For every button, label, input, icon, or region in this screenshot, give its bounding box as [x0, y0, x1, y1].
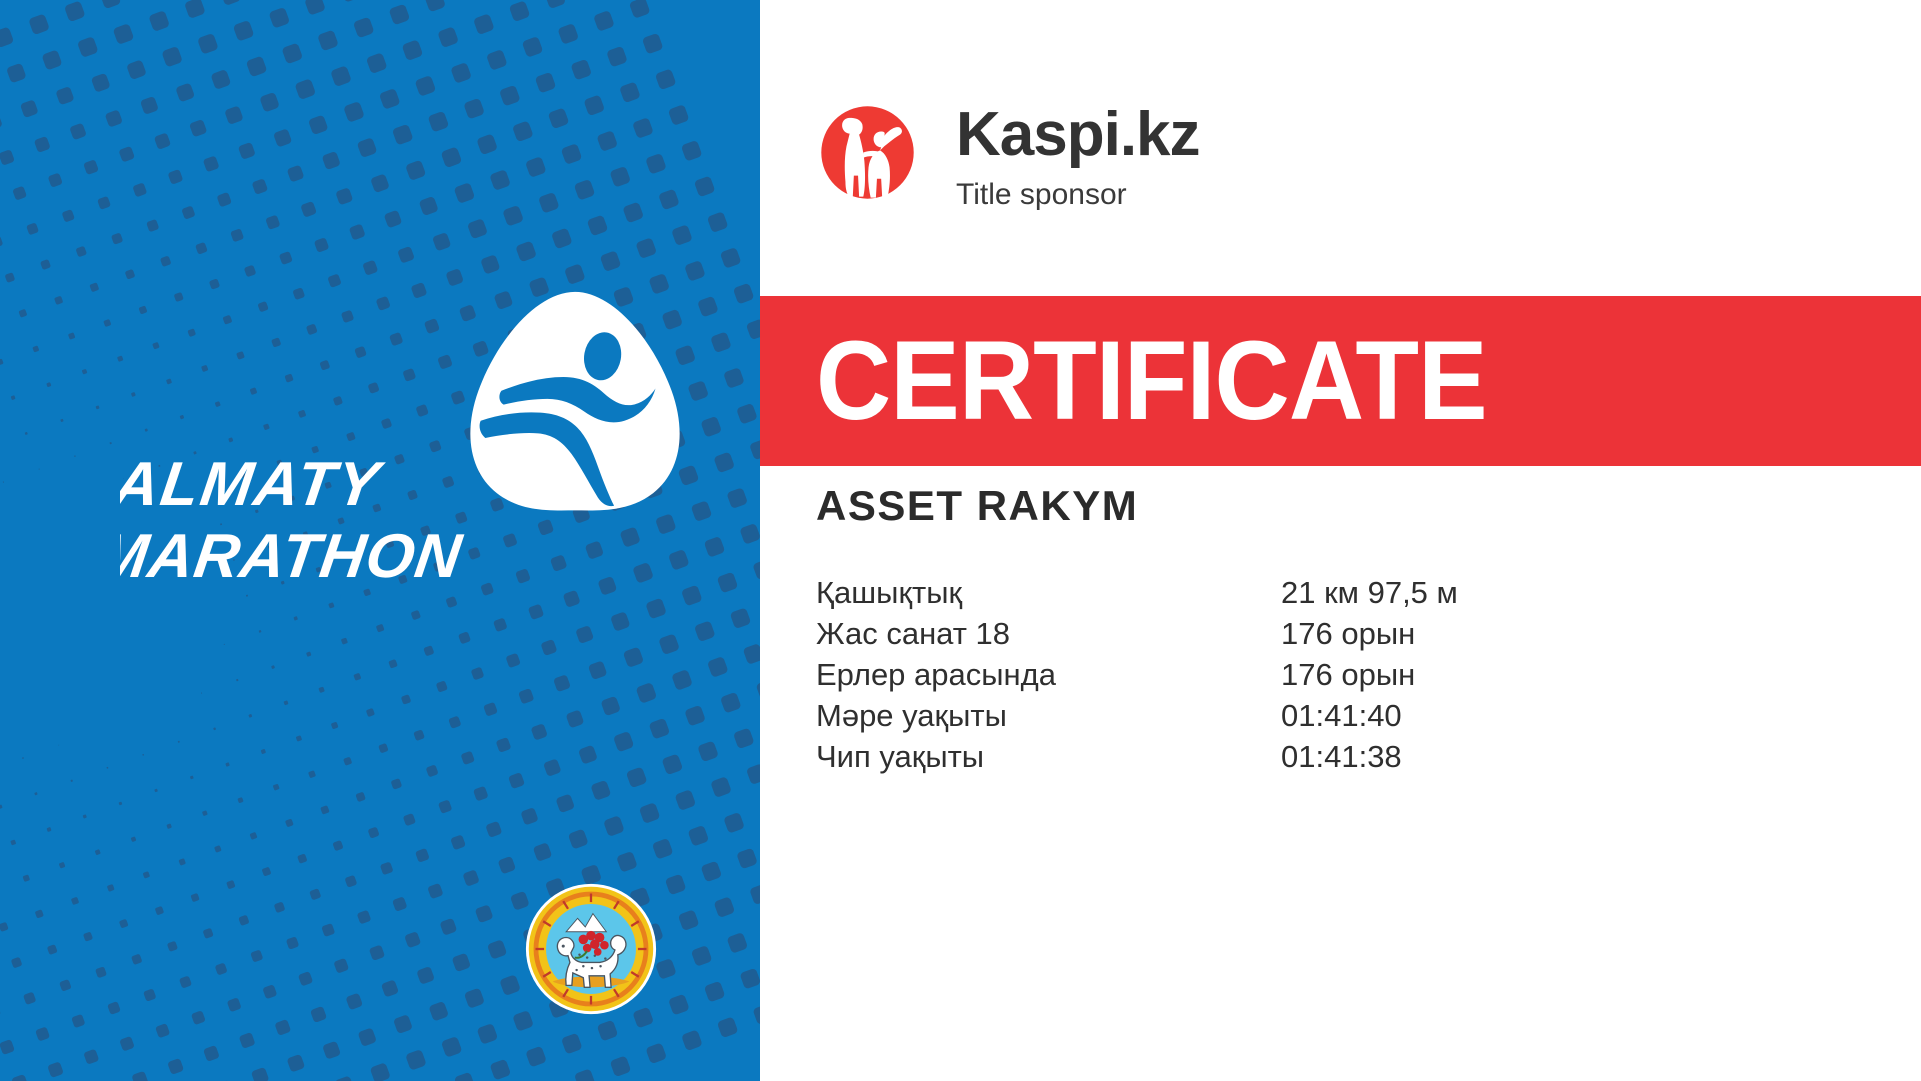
result-value: 176 орын [1281, 616, 1415, 652]
sponsor-text-block: Kaspi.kz Title sponsor [956, 100, 1200, 210]
table-row: Мәре уақыты 01:41:40 [816, 698, 1816, 739]
marathon-word-marathon: MARATHON [120, 522, 467, 591]
table-row: Ерлер арасында 176 орын [816, 657, 1816, 698]
result-label: Чип уақыты [816, 739, 1281, 775]
almaty-marathon-wordmark: ALMATY MARATHON [120, 445, 590, 595]
athlete-name: ASSET RAKYM [816, 482, 1138, 530]
sponsor-role: Title sponsor [956, 180, 1200, 210]
sponsor-name: Kaspi.kz [956, 104, 1200, 166]
result-label: Мәре уақыты [816, 698, 1281, 734]
certificate-page: ALMATY MARATHON [0, 0, 1921, 1081]
table-row: Чип уақыты 01:41:38 [816, 739, 1816, 780]
almaty-city-coat-of-arms [524, 882, 658, 1016]
certificate-banner: CERTIFICATE [760, 296, 1921, 466]
result-label: Жас санат 18 [816, 616, 1281, 652]
result-value: 176 орын [1281, 657, 1415, 693]
result-label: Қашықтық [816, 575, 1281, 611]
result-value: 01:41:40 [1281, 698, 1402, 734]
table-row: Қашықтық 21 км 97,5 м [816, 575, 1816, 616]
result-value: 21 км 97,5 м [1281, 575, 1458, 611]
title-sponsor-block: Kaspi.kz Title sponsor [815, 100, 1200, 210]
marathon-word-almaty: ALMATY [120, 450, 388, 519]
almaty-marathon-logo: ALMATY MARATHON [120, 285, 690, 605]
certificate-title: CERTIFICATE [816, 325, 1487, 437]
kaspi-kz-logo [815, 100, 920, 205]
table-row: Жас санат 18 176 орын [816, 616, 1816, 657]
results-table: Қашықтық 21 км 97,5 м Жас санат 18 176 о… [816, 575, 1816, 780]
result-label: Ерлер арасында [816, 657, 1281, 693]
result-value: 01:41:38 [1281, 739, 1402, 775]
brand-panel: ALMATY MARATHON [0, 0, 760, 1081]
content-panel: Kaspi.kz Title sponsor CERTIFICATE ASSET… [760, 0, 1921, 1081]
